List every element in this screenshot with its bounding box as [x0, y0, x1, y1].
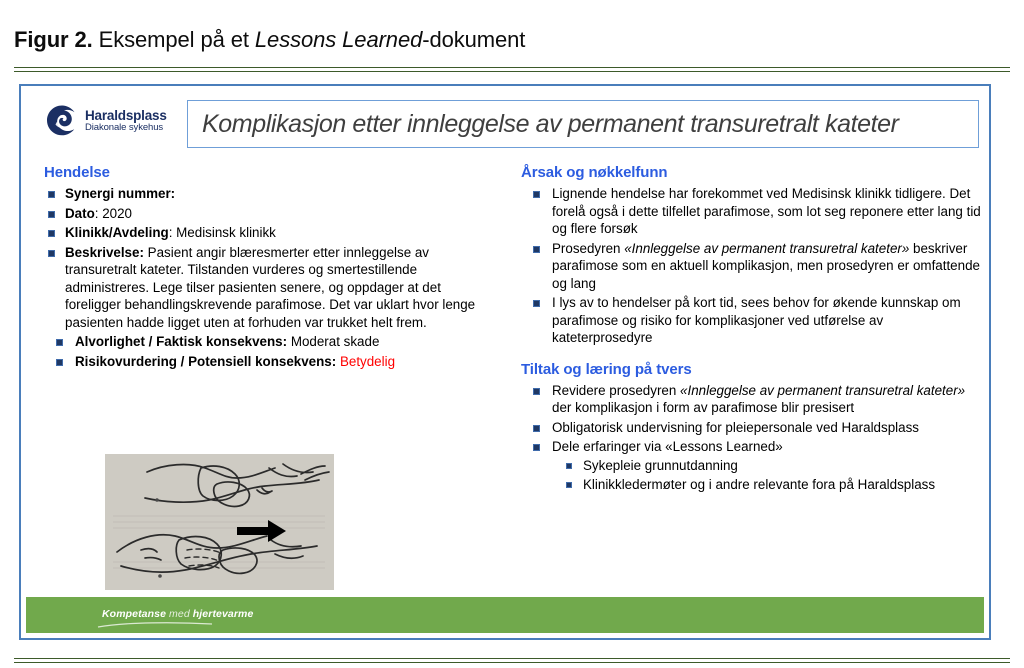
section-heading-tiltak: Tiltak og læring på tvers: [521, 361, 981, 378]
arsak-list: Lignende hendelse har forekommet ved Med…: [521, 185, 981, 347]
logo-text-block: Haraldsplass Diakonale sykehus: [85, 109, 167, 133]
slide-footer: Kompetanse med hjertevarme: [26, 597, 984, 633]
consequence-value: Moderat skade: [287, 334, 379, 349]
hendelse-item-label: Synergi nummer:: [65, 186, 175, 201]
caption-divider-top: [14, 67, 1010, 72]
hendelse-item: Dato: 2020: [44, 205, 496, 223]
section-heading-arsak: Årsak og nøkkelfunn: [521, 164, 981, 181]
logo-name: Haraldsplass: [85, 109, 167, 123]
consequence-item: Alvorlighet / Faktisk konsekvens: Modera…: [44, 333, 496, 351]
consequence-item: Risikovurdering / Potensiell konsekvens:…: [44, 353, 496, 371]
hendelse-item-value: Medisinsk klinikk: [176, 225, 276, 240]
arsak-item: Lignende hendelse har forekommet ved Med…: [521, 185, 981, 238]
tiltak-item-subitem: Sykepleie grunnutdanning: [552, 457, 981, 475]
hand-drawing-photo: [105, 454, 334, 590]
text-fragment: der komplikasjon i form av parafimose bl…: [552, 400, 854, 415]
figure-label: Figur 2.: [14, 27, 93, 52]
tagline-swoosh-icon: [96, 622, 216, 628]
consequence-list: Alvorlighet / Faktisk konsekvens: Modera…: [44, 333, 496, 370]
text-fragment: Revidere prosedyren: [552, 383, 680, 398]
text-fragment: Dele erfaringer via «Lessons Learned»: [552, 439, 783, 454]
lessons-learned-slide: Haraldsplass Diakonale sykehus Komplikas…: [19, 84, 991, 640]
hand-drawing-illustration: [105, 454, 334, 590]
hendelse-item: Synergi nummer:: [44, 185, 496, 203]
figure-caption: Figur 2. Eksempel på et Lessons Learned-…: [14, 25, 525, 55]
left-column: Hendelse Synergi nummer:Dato: 2020Klinik…: [44, 164, 496, 372]
caption-divider-bottom: [14, 658, 1010, 663]
tagline-part-1: Kompetanse: [102, 608, 166, 620]
hospital-logo: Haraldsplass Diakonale sykehus: [45, 104, 167, 138]
figure-caption-text-2: -dokument: [422, 27, 525, 52]
text-fragment: «Innleggelse av permanent transuretral k…: [624, 241, 909, 256]
arsak-item: I lys av to hendelser på kort tid, sees …: [521, 294, 981, 347]
text-fragment: Obligatorisk undervisning for pleieperso…: [552, 420, 919, 435]
arsak-item: Prosedyren «Innleggelse av permanent tra…: [521, 240, 981, 293]
tiltak-item: Dele erfaringer via «Lessons Learned»Syk…: [521, 438, 981, 494]
tiltak-item: Obligatorisk undervisning for pleieperso…: [521, 419, 981, 437]
tiltak-item-subitem: Klinikkledermøter og i andre relevante f…: [552, 476, 981, 494]
figure-caption-emphasis: Lessons Learned: [255, 27, 422, 52]
slide-header: Haraldsplass Diakonale sykehus Komplikas…: [21, 86, 989, 164]
footer-tagline: Kompetanse med hjertevarme: [102, 608, 253, 620]
hendelse-item-value: 2020: [102, 206, 132, 221]
text-fragment: I lys av to hendelser på kort tid, sees …: [552, 295, 961, 345]
text-fragment: Lignende hendelse har forekommet ved Med…: [552, 186, 981, 236]
logo-subtitle: Diakonale sykehus: [85, 123, 167, 133]
text-fragment: Prosedyren: [552, 241, 624, 256]
tagline-part-3: hjertevarme: [193, 608, 254, 620]
consequence-label: Alvorlighet / Faktisk konsekvens:: [75, 334, 287, 349]
hendelse-item: Beskrivelse: Pasient angir blæresmerter …: [44, 244, 496, 332]
text-fragment: «Innleggelse av permanent transuretral k…: [680, 383, 965, 398]
hendelse-list: Synergi nummer:Dato: 2020Klinikk/Avdelin…: [44, 185, 496, 331]
hendelse-item-label: Klinikk/Avdeling: [65, 225, 169, 240]
tiltak-item: Revidere prosedyren «Innleggelse av perm…: [521, 382, 981, 417]
consequence-label: Risikovurdering / Potensiell konsekvens:: [75, 354, 336, 369]
tagline-part-2: med: [166, 608, 193, 620]
hendelse-item-label: Dato: [65, 206, 95, 221]
hendelse-item: Klinikk/Avdeling: Medisinsk klinikk: [44, 224, 496, 242]
consequence-value-alert: Betydelig: [340, 354, 395, 369]
section-heading-hendelse: Hendelse: [44, 164, 496, 181]
haraldsplass-emblem-icon: [45, 104, 79, 138]
tiltak-list: Revidere prosedyren «Innleggelse av perm…: [521, 382, 981, 494]
right-column: Årsak og nøkkelfunn Lignende hendelse ha…: [521, 164, 981, 496]
tiltak-item-sublist: Sykepleie grunnutdanningKlinikkledermøte…: [552, 457, 981, 494]
hendelse-item-label: Beskrivelse:: [65, 245, 144, 260]
document-title: Komplikasjon etter innleggelse av perman…: [202, 110, 899, 139]
figure-caption-text-1: Eksempel på et: [93, 27, 255, 52]
document-title-box: Komplikasjon etter innleggelse av perman…: [187, 100, 979, 148]
